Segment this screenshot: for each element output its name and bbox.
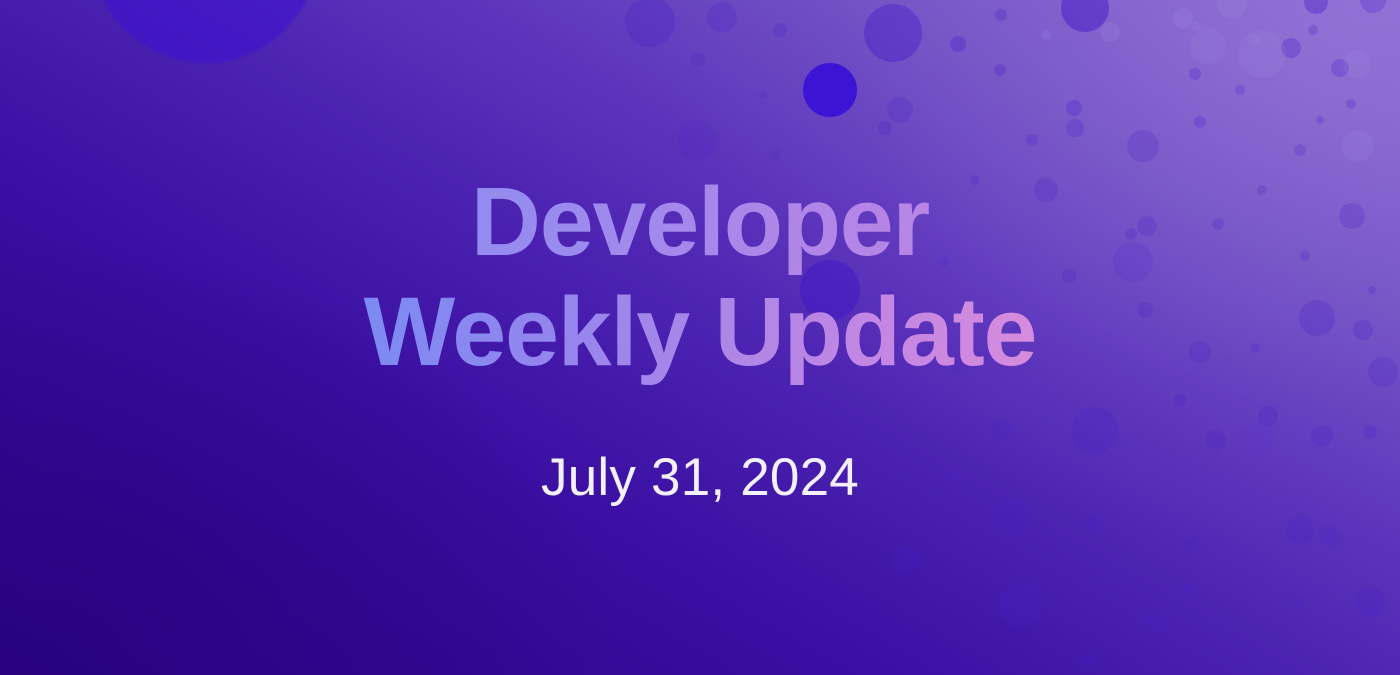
developer-weekly-update-banner: Developer Weekly Update July 31, 2024 — [0, 0, 1400, 675]
headline-line-2: Weekly Update — [364, 277, 1037, 387]
banner-content: Developer Weekly Update July 31, 2024 — [0, 0, 1400, 675]
headline-line-1: Developer — [364, 167, 1037, 277]
banner-date: July 31, 2024 — [541, 447, 859, 508]
banner-headline: Developer Weekly Update — [364, 167, 1037, 386]
